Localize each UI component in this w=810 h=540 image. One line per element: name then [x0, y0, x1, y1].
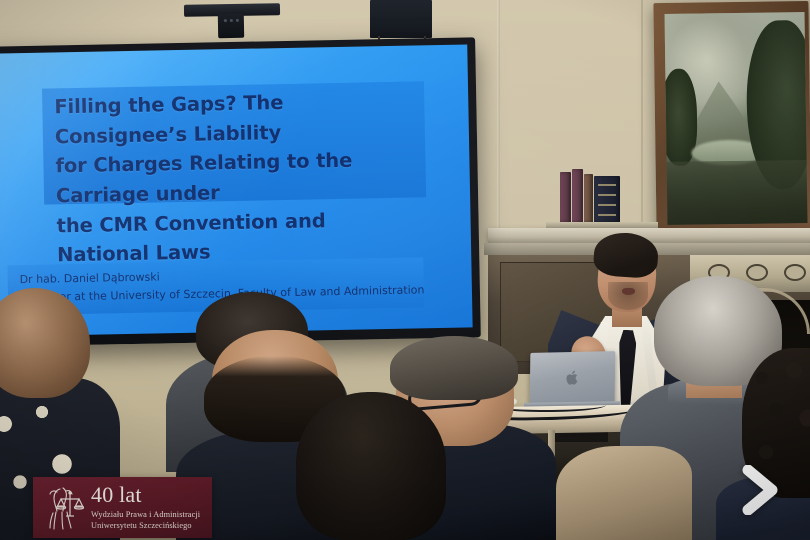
presenter-mouth	[622, 288, 635, 295]
logo-university-line: Uniwersytetu Szczecińskiego	[91, 520, 200, 531]
bookshelf-books	[548, 168, 656, 222]
tweed-jacket	[556, 446, 692, 540]
book	[584, 174, 593, 222]
book	[560, 172, 571, 222]
painting-foreground	[667, 160, 808, 225]
book	[572, 169, 583, 222]
slide-title-line-1: Filling the Gaps? The Consignee’s Liabil…	[54, 86, 413, 152]
anniversary-logo-badge: 40 lat Wydziału Prawa i Administracji Un…	[33, 477, 212, 538]
painting-canvas	[665, 12, 808, 225]
logo-faculty-line: Wydziału Prawa i Administracji	[91, 509, 200, 520]
presenter-beard	[608, 282, 648, 310]
apple-logo-icon	[565, 370, 579, 386]
slide-title-line-3: the CMR Convention and National Laws	[56, 204, 415, 270]
next-button[interactable]	[732, 462, 788, 518]
chevron-right-icon	[738, 465, 782, 515]
wall-seam	[497, 0, 500, 250]
audience-hair-grey	[390, 336, 518, 400]
macbook-laptop[interactable]	[530, 351, 616, 405]
slide-title: Filling the Gaps? The Consignee’s Liabil…	[54, 86, 415, 271]
photo-scene: Filling the Gaps? The Consignee’s Liabil…	[0, 0, 810, 540]
slide-title-line-2: for Charges Relating to the Carriage und…	[55, 145, 414, 211]
moulding-oval	[746, 264, 768, 281]
lady-justice-scales-icon	[40, 482, 84, 534]
audience-hair-dark	[296, 392, 446, 540]
logo-text-block: 40 lat Wydziału Prawa i Administracji Un…	[91, 484, 200, 531]
video-camera-mount	[218, 14, 244, 38]
av-speaker-box	[370, 0, 432, 38]
moulding-oval	[784, 264, 806, 281]
book	[594, 176, 620, 222]
framed-landscape-painting	[653, 1, 810, 235]
logo-years: 40 lat	[91, 484, 200, 506]
